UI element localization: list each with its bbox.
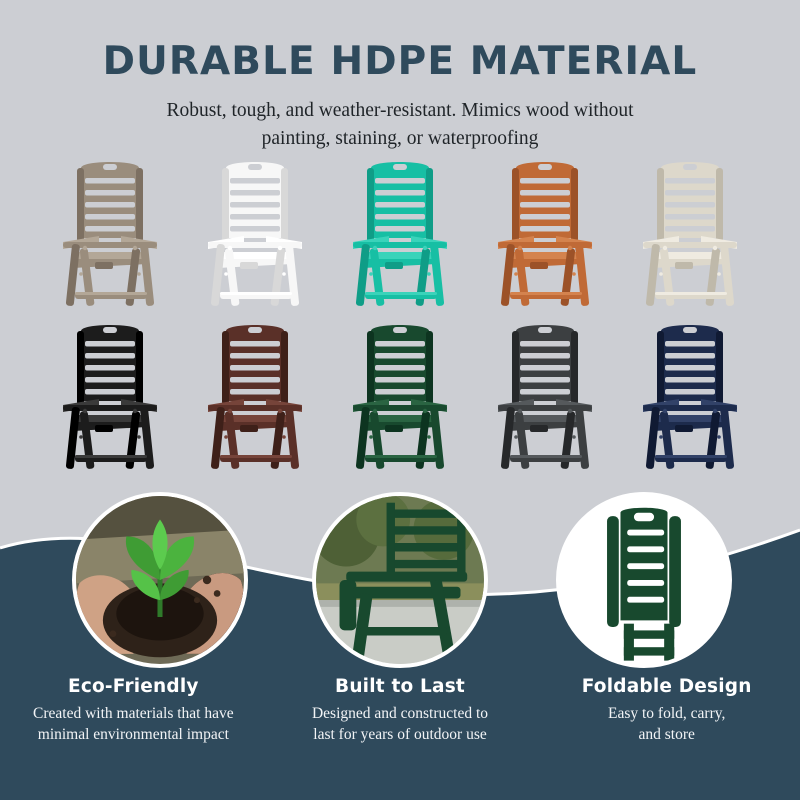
aruba-teal-chair-graphic	[345, 152, 455, 312]
mahogany-chair-graphic	[200, 315, 310, 475]
feature-caption-row: Eco-FriendlyCreated with materials that …	[0, 676, 800, 746]
teak-chair-graphic	[490, 152, 600, 312]
navy-blue-chair[interactable]	[635, 315, 745, 475]
white-chair-graphic	[200, 152, 310, 312]
mahogany-chair[interactable]	[200, 315, 310, 475]
green-chair-graphic	[345, 315, 455, 475]
aruba-teal-chair[interactable]	[345, 152, 455, 312]
green-chair[interactable]	[345, 315, 455, 475]
feature-2: Built to LastDesigned and constructed to…	[267, 676, 534, 746]
chair-color-row-bottom	[0, 315, 800, 475]
feature-title: Eco-Friendly	[8, 676, 259, 697]
outdoor-chair-icon	[316, 496, 484, 664]
feature-description-line-1: Easy to fold, carry,	[608, 705, 725, 722]
feature-description: Created with materials that haveminimal …	[8, 704, 259, 746]
folded-green-chair-photo	[556, 492, 732, 668]
white-chair[interactable]	[200, 152, 310, 312]
feature-3: Foldable DesignEasy to fold, carry,and s…	[533, 676, 800, 746]
weathered-wood-chair[interactable]	[55, 152, 165, 312]
black-chair-graphic	[55, 315, 165, 475]
feature-description-line-2: and store	[638, 726, 694, 743]
teak-chair[interactable]	[490, 152, 600, 312]
feature-description: Designed and constructed tolast for year…	[275, 704, 526, 746]
header: DURABLE HDPE MATERIAL Robust, tough, and…	[0, 0, 800, 152]
feature-title: Built to Last	[275, 676, 526, 697]
feature-description-line-2: last for years of outdoor use	[313, 726, 486, 743]
seedling-in-hands-photo	[72, 492, 248, 668]
feature-title: Foldable Design	[541, 676, 792, 697]
slate-grey-chair[interactable]	[490, 315, 600, 475]
page-title: DURABLE HDPE MATERIAL	[0, 0, 800, 83]
hdpe-material-infographic: DURABLE HDPE MATERIAL Robust, tough, and…	[0, 0, 800, 800]
chair-color-row-top	[0, 152, 800, 312]
black-chair[interactable]	[55, 315, 165, 475]
folded-chair-icon	[560, 496, 728, 664]
sand-chair[interactable]	[635, 152, 745, 312]
feature-description: Easy to fold, carry,and store	[541, 704, 792, 746]
sand-chair-graphic	[635, 152, 745, 312]
navy-blue-chair-graphic	[635, 315, 745, 475]
subtitle-line-1: Robust, tough, and weather-resistant. Mi…	[166, 100, 633, 121]
page-subtitle: Robust, tough, and weather-resistant. Mi…	[117, 83, 683, 152]
feature-1: Eco-FriendlyCreated with materials that …	[0, 676, 267, 746]
feature-description-line-2: minimal environmental impact	[38, 726, 229, 743]
feature-image-row	[0, 492, 800, 692]
seedling-in-hands-icon	[76, 496, 244, 664]
feature-description-line-1: Created with materials that have	[33, 705, 234, 722]
feature-description-line-1: Designed and constructed to	[312, 705, 488, 722]
weathered-wood-chair-graphic	[55, 152, 165, 312]
green-chair-outdoors-photo	[312, 492, 488, 668]
slate-grey-chair-graphic	[490, 315, 600, 475]
subtitle-line-2: painting, staining, or waterproofing	[262, 128, 539, 149]
